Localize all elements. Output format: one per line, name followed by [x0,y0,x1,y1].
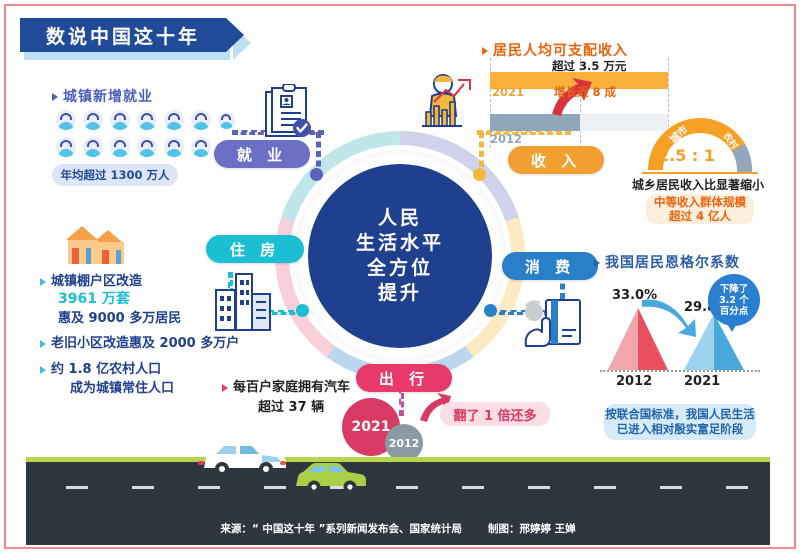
road-dash [726,486,748,489]
housing-item-2-line2: 成为城镇常住人口 [70,377,174,396]
travel-stat-chip: 翻了 1 倍还多 [440,402,550,426]
road-dash [528,486,550,489]
pill-housing[interactable]: 住 房 [206,235,304,263]
income-heading: 居民人均可支配收入 [493,43,628,59]
engel-bar-2012-light [608,308,638,370]
connector-employment-v [316,132,321,176]
road-dash [132,486,154,489]
income-year-2021: 2021 [492,85,524,99]
footer-bar: 来源：“ 中国这十年 ”系列新闻发布会、国家统计局 制图：邢婷婷 王婵 [26,512,770,545]
road-dash [660,486,682,489]
engel-chip-line2: 已进入相对殷实富足阶段 [617,422,744,437]
housing-item-0-line1: 城镇棚户区改造 [51,274,142,289]
gauge-value: 2.5 : 1 [658,146,715,165]
house-icon [64,222,132,266]
gauge-caption: 城乡居民收入比显著缩小 [632,176,764,193]
pill-travel[interactable]: 出 行 [356,364,452,392]
engel-conclusion-chip: 按联合国标准，我国人民生活 已进入相对殷实富足阶段 [604,404,756,440]
bullet-arrow-icon [594,259,600,267]
engel-value-2012: 33.0% [612,288,657,303]
engel-bubble-line3: 百分点 [720,306,749,317]
core-line-1: 人民 [378,206,422,231]
pill-employment[interactable]: 就 业 [214,140,310,168]
travel-heading-wrap: 每百户家庭拥有汽车 [222,376,350,395]
middle-income-line1: 中等收入群体规模 [654,195,746,209]
title-banner: 数说中国这十年 [20,18,226,52]
pill-travel-label: 出 行 [379,368,429,389]
road-dash [594,486,616,489]
engel-heading-wrap: 我国居民恩格尔系数 [594,252,740,272]
employment-heading: 城镇新增就业 [63,89,153,105]
white-car-icon [194,442,290,478]
bullet-arrow-icon [222,384,228,392]
pill-income-label: 收 入 [531,150,581,171]
core-line-3: 全方位 [367,256,433,281]
credit-card-hand-icon [520,296,586,352]
road-dash [66,486,88,489]
gauge-rule [642,172,758,174]
footer-credit: 制图：邢婷婷 王婵 [488,521,576,536]
housing-item-1-bullet: 老旧小区改造惠及 2000 多万户 [40,332,239,351]
pill-income[interactable]: 收 入 [508,146,604,174]
housing-item-2-bullet: 约 1.8 亿农村人口 [40,358,161,377]
road-dash [198,486,220,489]
road-dash [462,486,484,489]
travel-heading-line1: 每百户家庭拥有汽车 [233,380,350,395]
connector-income-v [479,132,484,176]
engel-bubble-line2: 3.2 个 [719,295,749,306]
housing-item-2-line1: 约 1.8 亿农村人口 [51,362,161,377]
travel-circle-2021-label: 2021 [352,419,391,435]
banner-tip [226,18,244,52]
pill-employment-label: 就 业 [237,144,287,165]
engel-baseline [600,370,760,372]
housing-item-0-line3: 惠及 9000 多万居民 [58,307,181,326]
footer-source: 来源：“ 中国这十年 ”系列新闻发布会、国家统计局 [220,521,462,536]
travel-circle-2012-label: 2012 [389,437,420,450]
income-top-label: 超过 3.5 万元 [552,58,626,74]
housing-item-1-line1: 老旧小区改造惠及 2000 多万户 [51,336,239,351]
middle-income-line2: 超过 4 亿人 [669,209,731,223]
core-line-2: 生活水平 [356,231,444,256]
pill-consumption[interactable]: 消 费 [502,252,598,280]
income-growth-label: 增长近 8 成 [554,84,616,100]
center-core: 人民 生活水平 全方位 提升 [308,164,492,348]
income-heading-wrap: 居民人均可支配收入 [482,40,628,60]
income-person-chart-icon [418,72,476,136]
housing-item-0-line2-wrap: 3961 万套 [58,288,130,308]
building-icon [212,272,274,332]
employment-stat: 年均超过 1300 万人 [60,167,169,183]
bullet-arrow-icon [40,340,46,348]
core-line-4: 提升 [378,281,422,306]
page-title: 数说中国这十年 [46,22,200,49]
housing-item-0-bullet: 城镇棚户区改造 [40,270,142,289]
engel-callout-bubble: 下降了 3.2 个 百分点 [708,274,760,326]
pill-housing-label: 住 房 [230,239,280,260]
bullet-arrow-icon [52,93,58,101]
housing-item-0-line2: 3961 万套 [58,291,130,307]
middle-income-chip: 中等收入群体规模 超过 4 亿人 [646,194,754,224]
center-ring: 人民 生活水平 全方位 提升 [268,124,532,388]
bullet-arrow-icon [40,366,46,374]
engel-chip-line1: 按联合国标准，我国人民生活 [605,407,755,422]
bullet-arrow-icon [482,47,488,55]
employment-stat-chip: 年均超过 1300 万人 [52,164,178,186]
engel-bubble-line1: 下降了 [720,284,749,295]
road-dash [264,486,286,489]
engel-label-2012: 2012 [616,374,652,389]
bullet-arrow-icon [40,278,46,286]
employment-heading-wrap: 城镇新增就业 [52,86,153,106]
clipboard-check-icon [262,84,314,144]
road-dash [396,486,418,489]
engel-heading: 我国居民恩格尔系数 [605,255,740,271]
engel-label-2021: 2021 [684,374,720,389]
pill-consumption-label: 消 费 [525,256,575,277]
travel-heading-line2: 超过 37 辆 [258,396,324,415]
income-year-2012: 2012 [490,132,522,146]
travel-chip-label: 翻了 1 倍还多 [453,405,536,424]
infographic-page: 数说中国这十年 人民 生活水平 全方位 提升 [0,0,800,553]
green-car-icon [292,462,370,494]
